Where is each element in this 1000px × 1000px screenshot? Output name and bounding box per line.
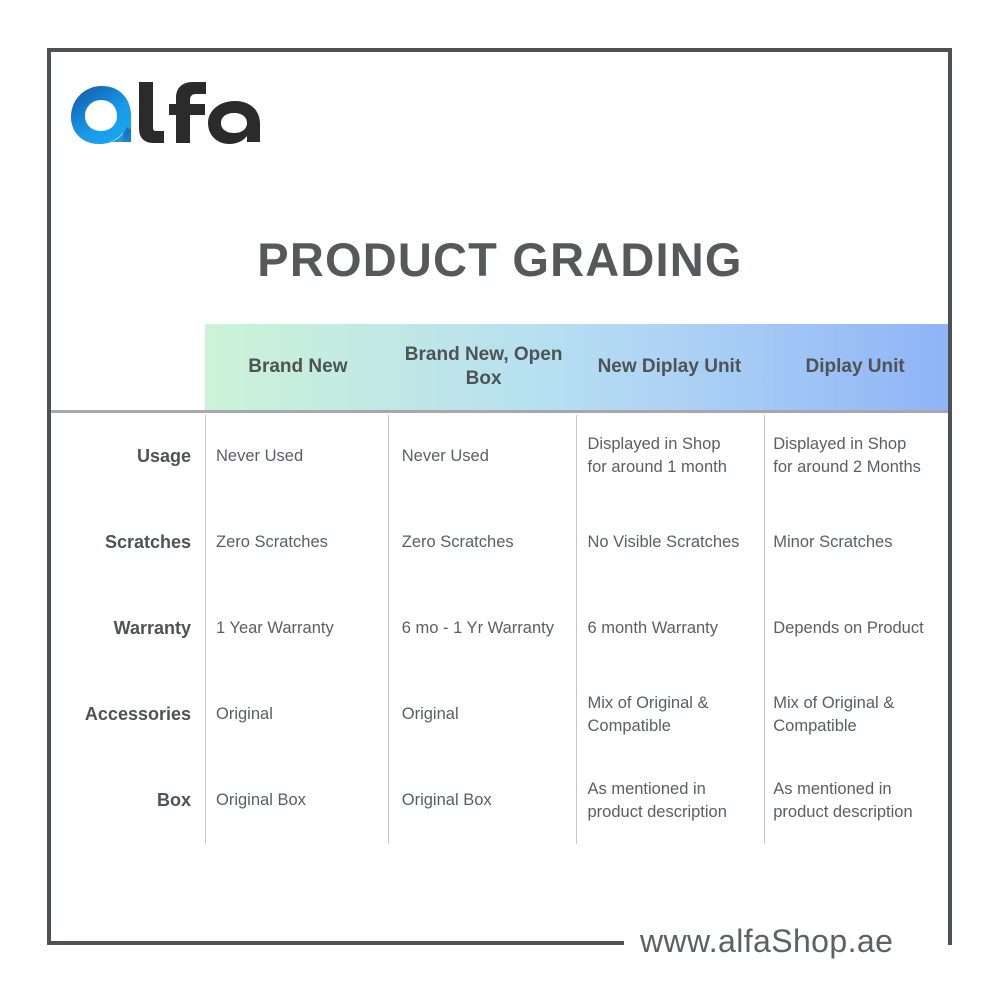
cell-warranty-brand-new: 1 Year Warranty xyxy=(205,585,391,671)
cell-line-2: product description xyxy=(588,801,727,824)
row-label-accessories: Accessories xyxy=(51,672,205,758)
cell-line-1: Never Used xyxy=(216,445,303,468)
cell-line-2: for around 1 month xyxy=(588,456,727,479)
website-url[interactable]: www.alfaShop.ae xyxy=(640,921,893,961)
table-row: Usage Never Used Never Used Displayed in… xyxy=(51,413,948,499)
row-label-box: Box xyxy=(51,758,205,844)
alfa-logo-icon xyxy=(69,80,269,148)
cell-line-1: Displayed in Shop xyxy=(588,433,727,456)
table-row: Accessories Original Original Mix of Ori… xyxy=(51,672,948,758)
cell-line-1: As mentioned in xyxy=(588,778,727,801)
cell-warranty-new-diplay-unit: 6 month Warranty xyxy=(577,585,763,671)
cell-accessories-brand-new-open-box: Original xyxy=(391,672,577,758)
cell-usage-diplay-unit: Displayed in Shop for around 2 Months xyxy=(762,413,948,499)
cell-line-1: Mix of Original & xyxy=(773,692,894,715)
cell-warranty-diplay-unit: Depends on Product xyxy=(762,585,948,671)
cell-line-1: Mix of Original & xyxy=(588,692,709,715)
cell-line-1: 6 mo - 1 Yr Warranty xyxy=(402,617,554,640)
cell-line-1: 6 month Warranty xyxy=(588,617,719,640)
cell-warranty-brand-new-open-box: 6 mo - 1 Yr Warranty xyxy=(391,585,577,671)
cell-scratches-diplay-unit: Minor Scratches xyxy=(762,499,948,585)
column-header-brand-new-open-box[interactable]: Brand New, Open Box xyxy=(391,324,577,410)
cell-scratches-new-diplay-unit: No Visible Scratches xyxy=(577,499,763,585)
row-label-usage: Usage xyxy=(51,413,205,499)
cell-line-1: Original xyxy=(402,703,459,726)
product-grading-table: Brand New Brand New, Open Box New Diplay… xyxy=(51,324,948,844)
cell-line-1: Zero Scratches xyxy=(402,531,514,554)
table-body: Usage Never Used Never Used Displayed in… xyxy=(51,413,948,844)
page-title: PRODUCT GRADING xyxy=(0,232,1000,288)
table-row: Scratches Zero Scratches Zero Scratches … xyxy=(51,499,948,585)
cell-usage-brand-new-open-box: Never Used xyxy=(391,413,577,499)
cell-line-2: for around 2 Months xyxy=(773,456,921,479)
row-label-scratches: Scratches xyxy=(51,499,205,585)
cell-accessories-diplay-unit: Mix of Original & Compatible xyxy=(762,672,948,758)
cell-box-brand-new: Original Box xyxy=(205,758,391,844)
cell-scratches-brand-new: Zero Scratches xyxy=(205,499,391,585)
frame-bottom-rule xyxy=(47,941,624,945)
cell-box-diplay-unit: As mentioned in product description xyxy=(762,758,948,844)
cell-line-1: Original Box xyxy=(402,789,492,812)
table-row: Box Original Box Original Box As mention… xyxy=(51,758,948,844)
cell-line-1: As mentioned in xyxy=(773,778,912,801)
column-header-diplay-unit[interactable]: Diplay Unit xyxy=(762,324,948,410)
cell-accessories-brand-new: Original xyxy=(205,672,391,758)
cell-accessories-new-diplay-unit: Mix of Original & Compatible xyxy=(577,672,763,758)
column-header-new-diplay-unit[interactable]: New Diplay Unit xyxy=(577,324,763,410)
cell-line-1: Original xyxy=(216,703,273,726)
table-header-row: Brand New Brand New, Open Box New Diplay… xyxy=(205,324,948,410)
cell-line-2: Compatible xyxy=(773,715,894,738)
cell-line-1: Original Box xyxy=(216,789,306,812)
cell-line-2: Compatible xyxy=(588,715,709,738)
cell-line-1: Never Used xyxy=(402,445,489,468)
cell-line-1: Zero Scratches xyxy=(216,531,328,554)
column-header-line-1: Brand New, xyxy=(405,344,509,365)
column-header-brand-new[interactable]: Brand New xyxy=(205,324,391,410)
row-label-warranty: Warranty xyxy=(51,585,205,671)
cell-line-1: 1 Year Warranty xyxy=(216,617,334,640)
cell-line-1: Depends on Product xyxy=(773,617,923,640)
cell-line-1: Minor Scratches xyxy=(773,531,892,554)
cell-box-new-diplay-unit: As mentioned in product description xyxy=(577,758,763,844)
cell-line-2: product description xyxy=(773,801,912,824)
cell-scratches-brand-new-open-box: Zero Scratches xyxy=(391,499,577,585)
cell-line-1: Displayed in Shop xyxy=(773,433,921,456)
cell-usage-brand-new: Never Used xyxy=(205,413,391,499)
cell-line-1: No Visible Scratches xyxy=(588,531,740,554)
alfa-logo[interactable] xyxy=(69,80,269,148)
cell-usage-new-diplay-unit: Displayed in Shop for around 1 month xyxy=(577,413,763,499)
table-row: Warranty 1 Year Warranty 6 mo - 1 Yr War… xyxy=(51,585,948,671)
cell-box-brand-new-open-box: Original Box xyxy=(391,758,577,844)
